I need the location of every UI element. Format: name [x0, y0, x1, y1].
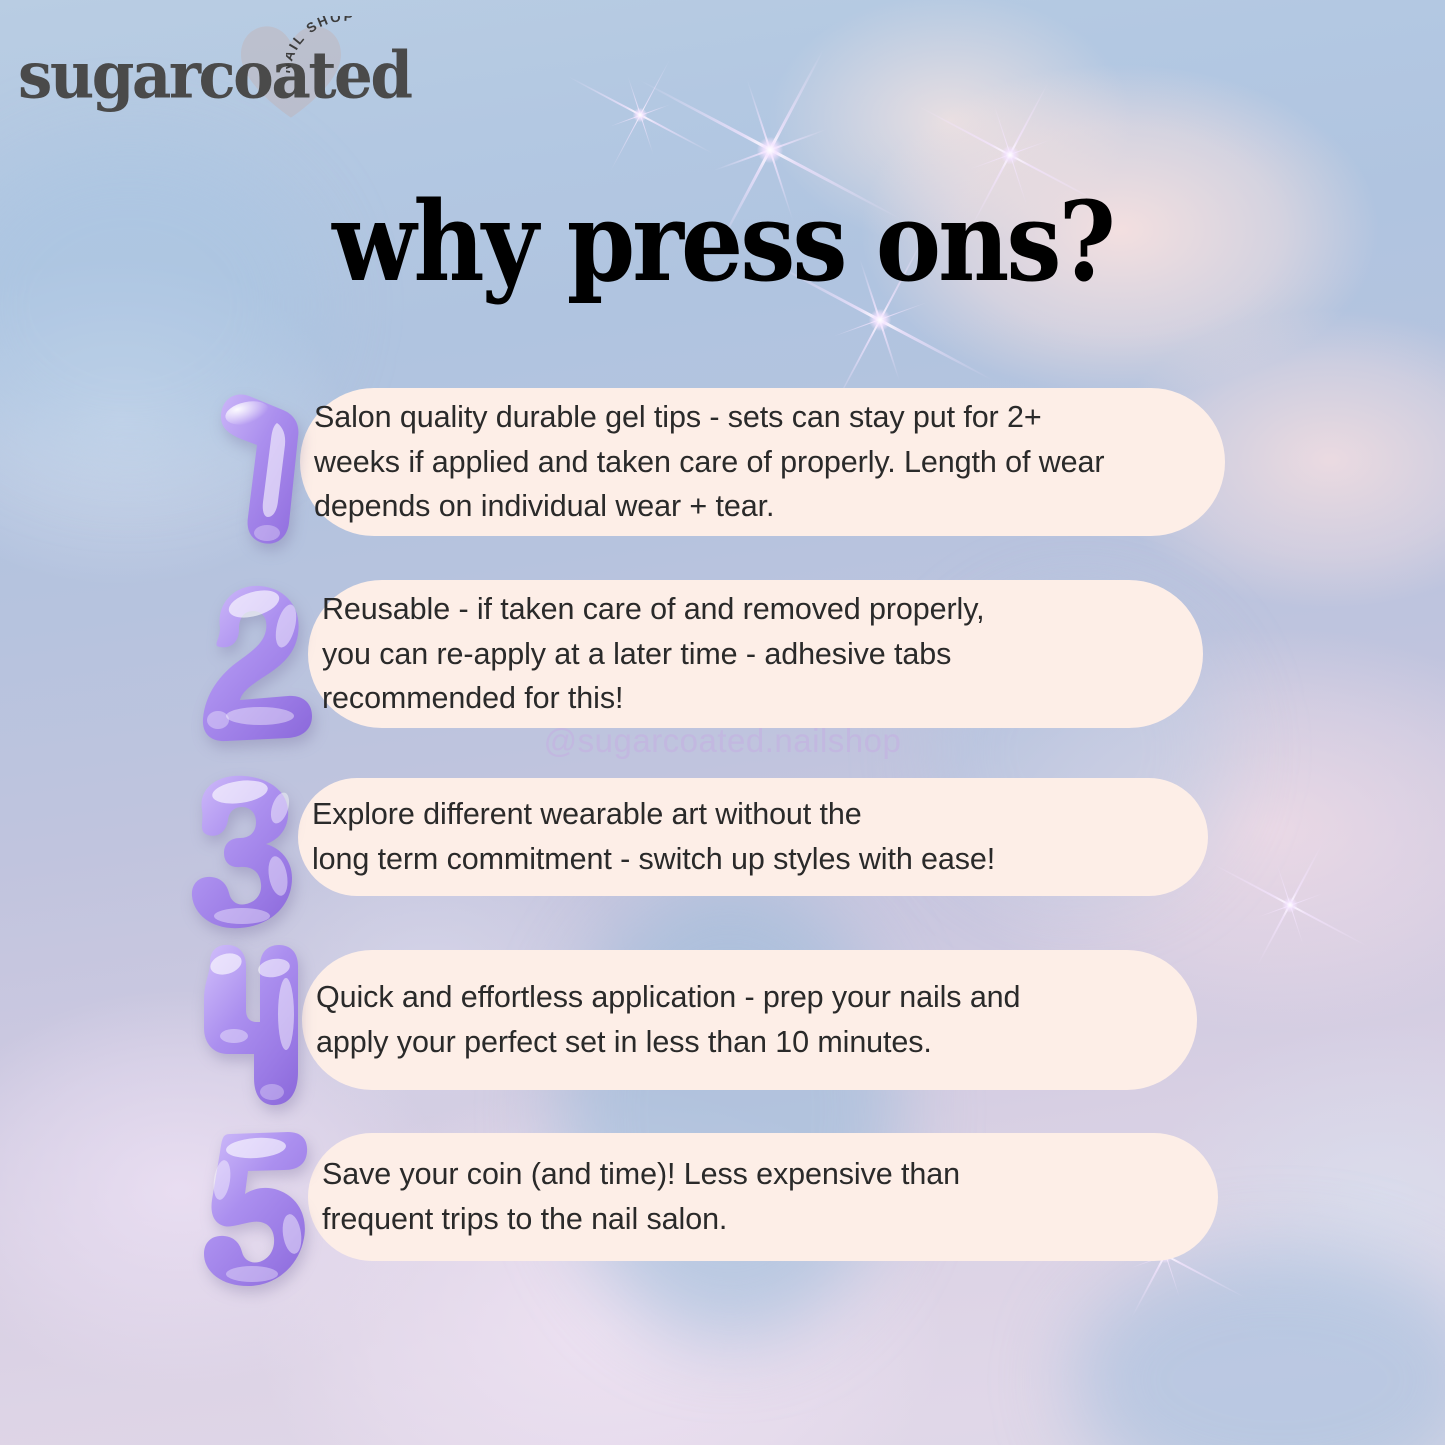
benefit-text: Salon quality durable gel tips - sets ca… — [314, 395, 1104, 529]
benefit-text: Quick and effortless application - prep … — [316, 975, 1020, 1065]
balloon-number-2 — [198, 578, 318, 746]
balloon-number-5 — [196, 1128, 314, 1296]
benefit-card: Explore different wearable art without t… — [298, 778, 1208, 896]
benefit-text: Explore different wearable art without t… — [312, 792, 995, 882]
balloon-number-3 — [182, 772, 310, 932]
benefit-card: Reusable - if taken care of and removed … — [308, 580, 1203, 728]
benefit-text: Save your coin (and time)! Less expensiv… — [322, 1152, 960, 1242]
balloon-number-1 — [205, 383, 313, 548]
poster-canvas: sugarcoated NAIL SHOP why press ons? Sal… — [0, 0, 1445, 1445]
benefit-card: Quick and effortless application - prep … — [302, 950, 1197, 1090]
watermark: @sugarcoated.nailshop — [544, 722, 902, 760]
benefit-text: Reusable - if taken care of and removed … — [322, 587, 985, 721]
benefit-card: Save your coin (and time)! Less expensiv… — [308, 1133, 1218, 1261]
balloon-number-4 — [196, 942, 314, 1112]
benefit-card: Salon quality durable gel tips - sets ca… — [300, 388, 1225, 536]
